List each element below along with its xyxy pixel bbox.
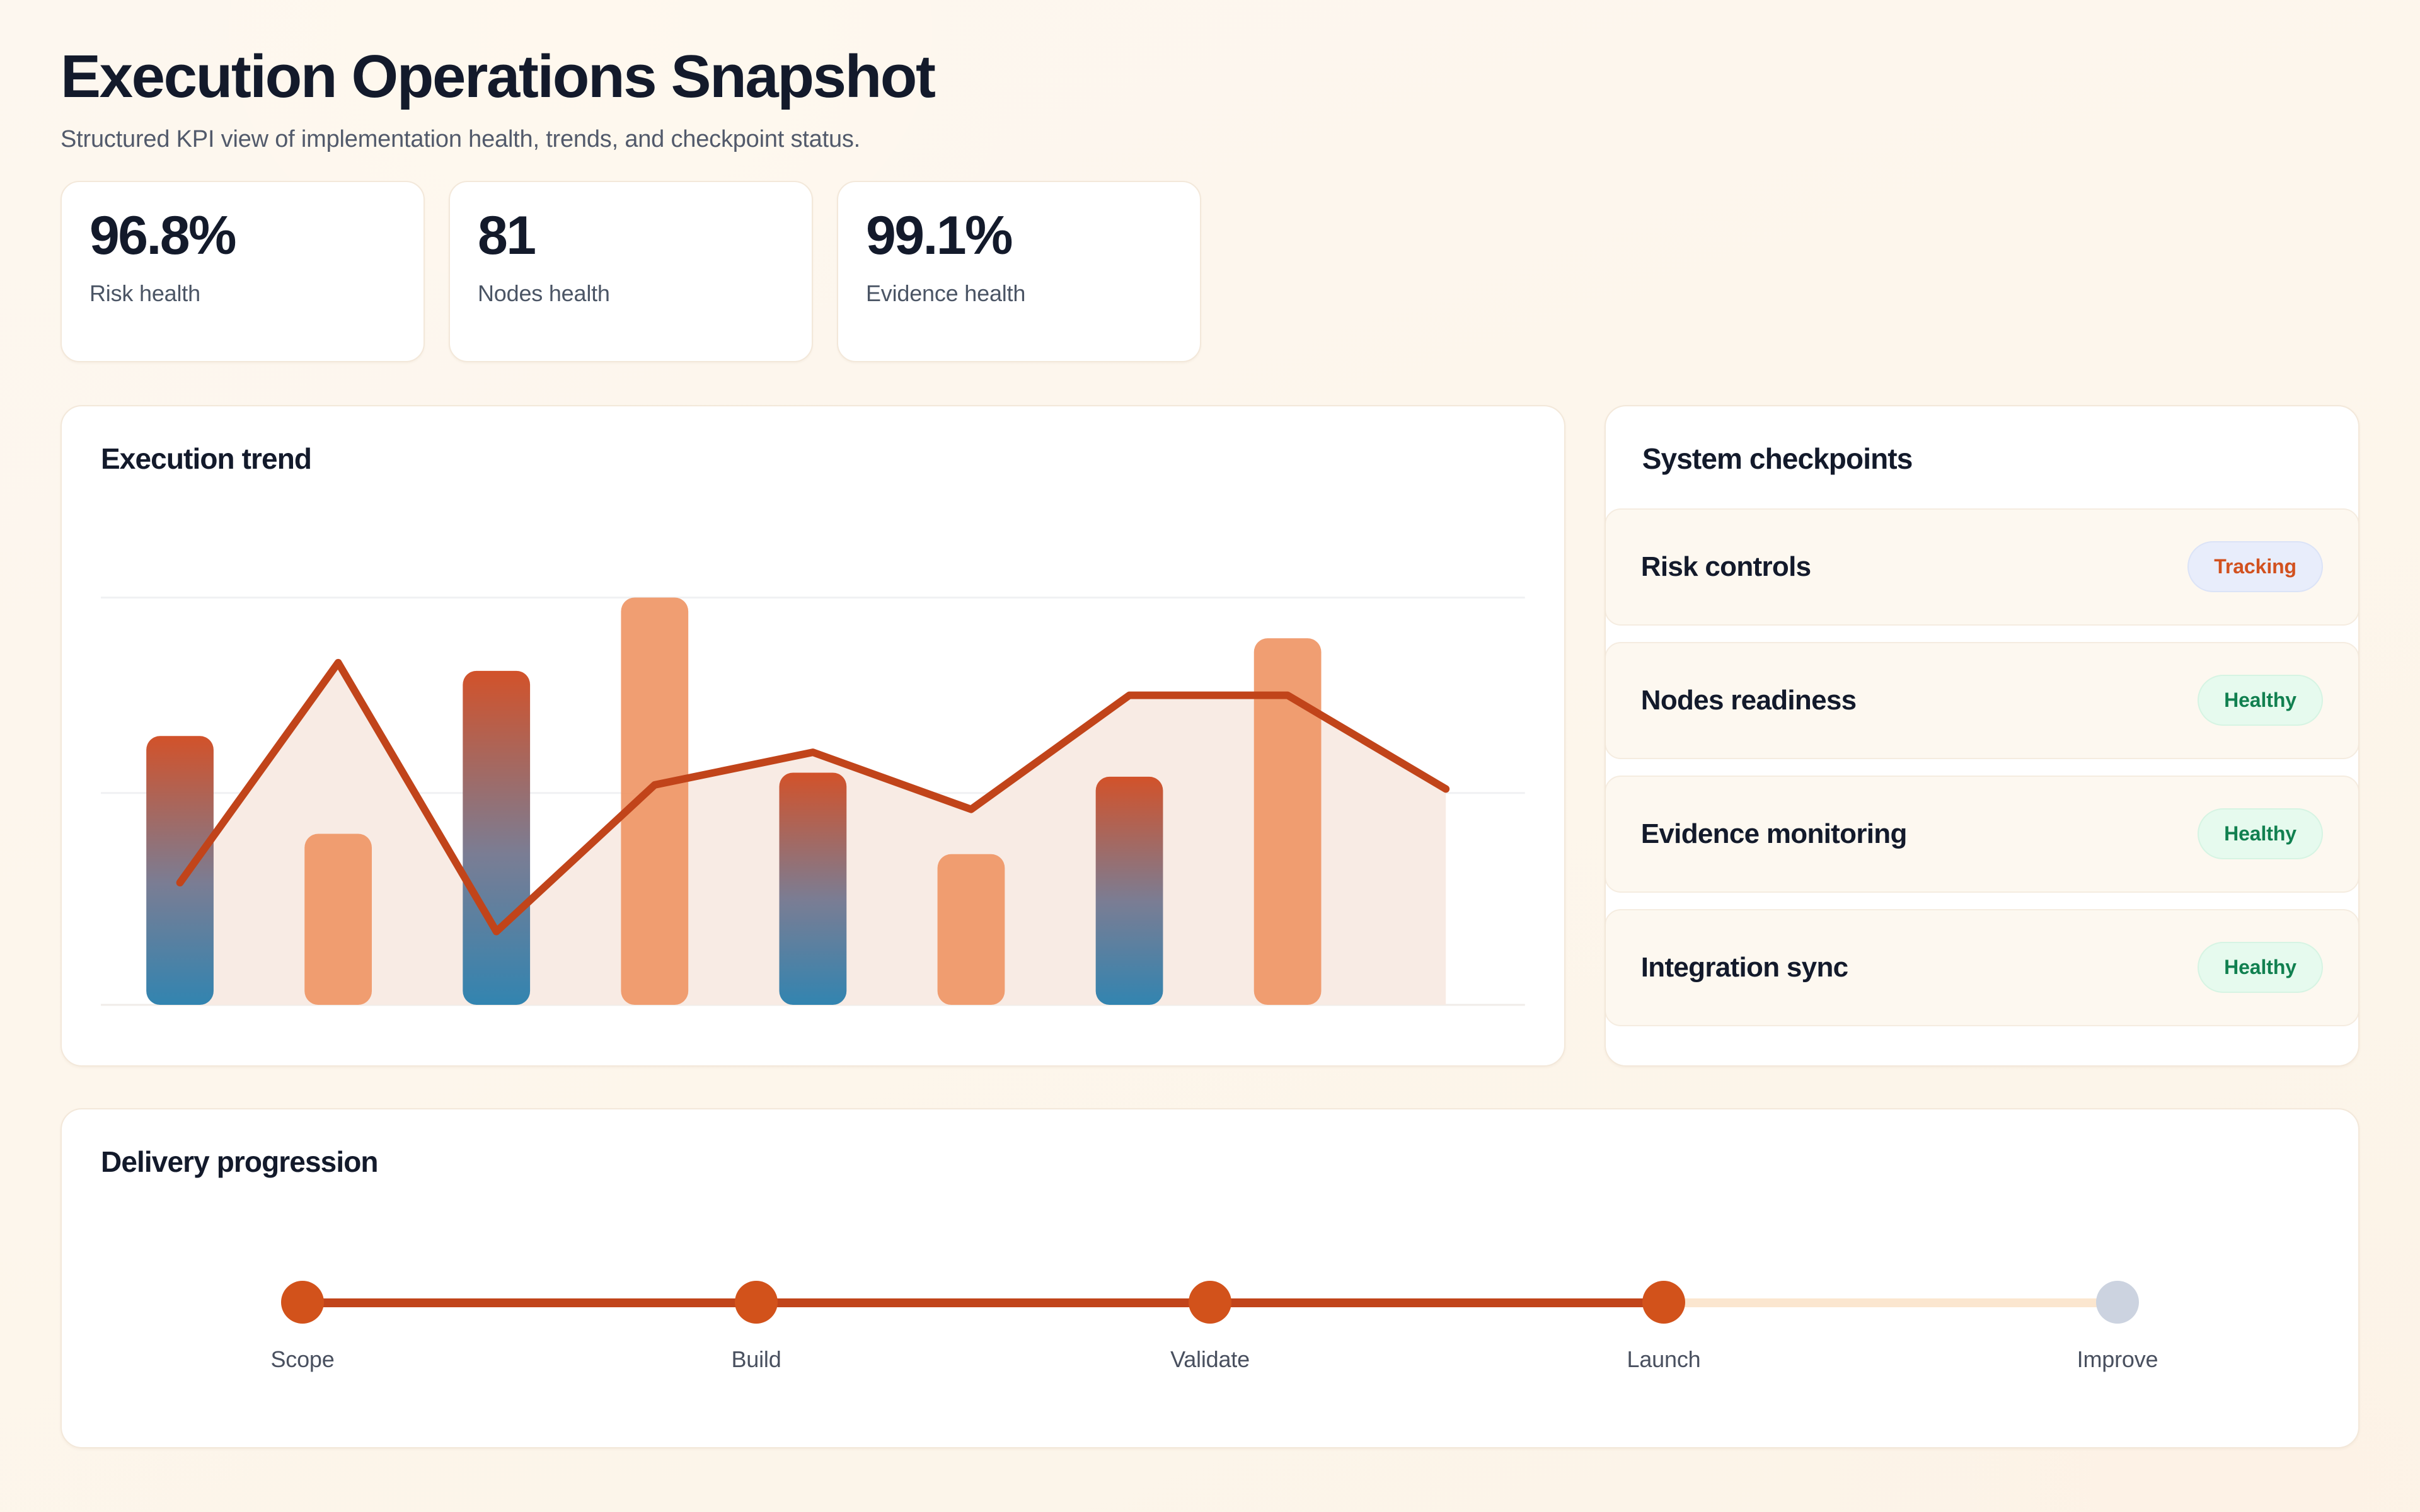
kpi-value: 81 <box>478 207 784 264</box>
system-checkpoints-panel: System checkpoints Risk controls Trackin… <box>1605 405 2359 1067</box>
execution-trend-title: Execution trend <box>101 442 1525 476</box>
checkpoint-list: Risk controls Tracking Nodes readiness H… <box>1606 508 2358 1026</box>
system-checkpoints-title: System checkpoints <box>1606 442 2358 476</box>
kpi-value: 96.8% <box>89 207 396 264</box>
page-subtitle: Structured KPI view of implementation he… <box>60 126 2359 153</box>
checkpoint-name: Risk controls <box>1641 551 1811 583</box>
delivery-step-launch[interactable]: Launch <box>1550 1281 1777 1373</box>
status-badge: Healthy <box>2198 675 2323 726</box>
dashboard-page: Execution Operations Snapshot Structured… <box>0 0 2420 1512</box>
kpi-value: 99.1% <box>866 207 1172 264</box>
step-label: Launch <box>1550 1346 1777 1373</box>
page-title: Execution Operations Snapshot <box>60 44 2359 110</box>
checkpoint-row-risk-controls[interactable]: Risk controls Tracking <box>1605 508 2359 626</box>
kpi-label: Nodes health <box>478 280 784 307</box>
step-dot-complete-icon <box>1642 1281 1685 1324</box>
step-label: Build <box>643 1346 870 1373</box>
kpi-row: 96.8% Risk health 81 Nodes health 99.1% … <box>60 181 2359 362</box>
delivery-step-track: ScopeBuildValidateLaunchImprove <box>302 1281 2117 1407</box>
checkpoint-row-nodes-readiness[interactable]: Nodes readiness Healthy <box>1605 642 2359 759</box>
delivery-progression-title: Delivery progression <box>101 1145 2319 1179</box>
delivery-progression-panel: Delivery progression ScopeBuildValidateL… <box>60 1108 2359 1448</box>
kpi-card-risk-health: 96.8% Risk health <box>60 181 425 362</box>
trend-svg <box>101 507 1525 1030</box>
step-dot-complete-icon <box>735 1281 778 1324</box>
step-dot-complete-icon <box>281 1281 324 1324</box>
status-badge: Healthy <box>2198 808 2323 859</box>
checkpoint-name: Evidence monitoring <box>1641 818 1907 850</box>
kpi-label: Risk health <box>89 280 396 307</box>
kpi-card-nodes-health: 81 Nodes health <box>449 181 813 362</box>
delivery-step-validate[interactable]: Validate <box>1097 1281 1323 1373</box>
step-label: Validate <box>1097 1346 1323 1373</box>
execution-trend-chart <box>101 507 1525 1030</box>
delivery-step-scope[interactable]: Scope <box>189 1281 416 1373</box>
progress-track-fill <box>302 1298 1664 1307</box>
mid-grid: Execution trend <box>60 405 2359 1067</box>
kpi-label: Evidence health <box>866 280 1172 307</box>
step-label: Scope <box>189 1346 416 1373</box>
delivery-step-build[interactable]: Build <box>643 1281 870 1373</box>
step-dot-pending-icon <box>2096 1281 2139 1324</box>
checkpoint-row-evidence-monitoring[interactable]: Evidence monitoring Healthy <box>1605 776 2359 893</box>
kpi-card-evidence-health: 99.1% Evidence health <box>837 181 1201 362</box>
status-badge: Tracking <box>2187 541 2323 592</box>
checkpoint-name: Integration sync <box>1641 952 1848 983</box>
execution-trend-panel: Execution trend <box>60 405 1565 1067</box>
step-dot-complete-icon <box>1189 1281 1231 1324</box>
step-label: Improve <box>2004 1346 2231 1373</box>
checkpoint-row-integration-sync[interactable]: Integration sync Healthy <box>1605 909 2359 1026</box>
checkpoint-name: Nodes readiness <box>1641 685 1857 716</box>
status-badge: Healthy <box>2198 942 2323 993</box>
delivery-step-improve[interactable]: Improve <box>2004 1281 2231 1373</box>
